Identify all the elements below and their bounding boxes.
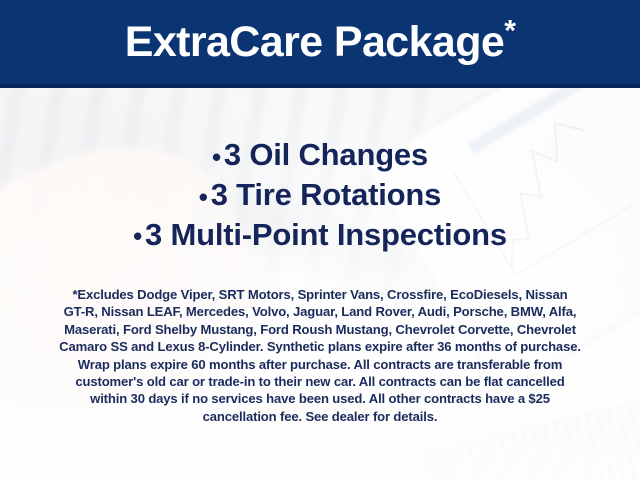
- benefit-item: •3 Multi-Point Inspections: [0, 216, 640, 256]
- disclaimer-line: cancellation fee. See dealer for details…: [26, 408, 614, 425]
- bullet-icon: •: [212, 142, 224, 172]
- disclaimer-line: Maserati, Ford Shelby Mustang, Ford Rous…: [26, 321, 614, 338]
- benefit-item-label: 3 Oil Changes: [224, 137, 428, 172]
- disclaimer-line: customer's old car or trade-in to their …: [26, 373, 614, 390]
- disclaimer-line: Wrap plans expire 60 months after purcha…: [26, 356, 614, 373]
- disclaimer-line: GT-R, Nissan LEAF, Mercedes, Volvo, Jagu…: [26, 303, 614, 320]
- page-title: ExtraCare Package*: [125, 21, 516, 64]
- benefits-list: •3 Oil Changes •3 Tire Rotations •3 Mult…: [0, 136, 640, 255]
- disclaimer-line: Camaro SS and Lexus 8-Cylinder. Syntheti…: [26, 338, 614, 355]
- benefit-item: •3 Tire Rotations: [0, 176, 640, 216]
- benefit-item-label: 3 Tire Rotations: [211, 177, 442, 212]
- page-title-text: ExtraCare Package: [125, 18, 504, 66]
- disclaimer-line: *Excludes Dodge Viper, SRT Motors, Sprin…: [26, 286, 614, 303]
- extracare-promo-card: ExtraCare Package* •3 Oil Changes •3 Tir…: [0, 0, 640, 480]
- header-banner: ExtraCare Package*: [0, 0, 640, 88]
- bullet-icon: •: [199, 182, 211, 212]
- bullet-icon: •: [133, 221, 145, 251]
- page-title-asterisk: *: [504, 14, 515, 47]
- benefit-item-label: 3 Multi-Point Inspections: [145, 217, 507, 252]
- disclaimer-text: *Excludes Dodge Viper, SRT Motors, Sprin…: [26, 286, 614, 425]
- disclaimer-line: within 30 days if no services have been …: [26, 390, 614, 407]
- benefit-item: •3 Oil Changes: [0, 136, 640, 176]
